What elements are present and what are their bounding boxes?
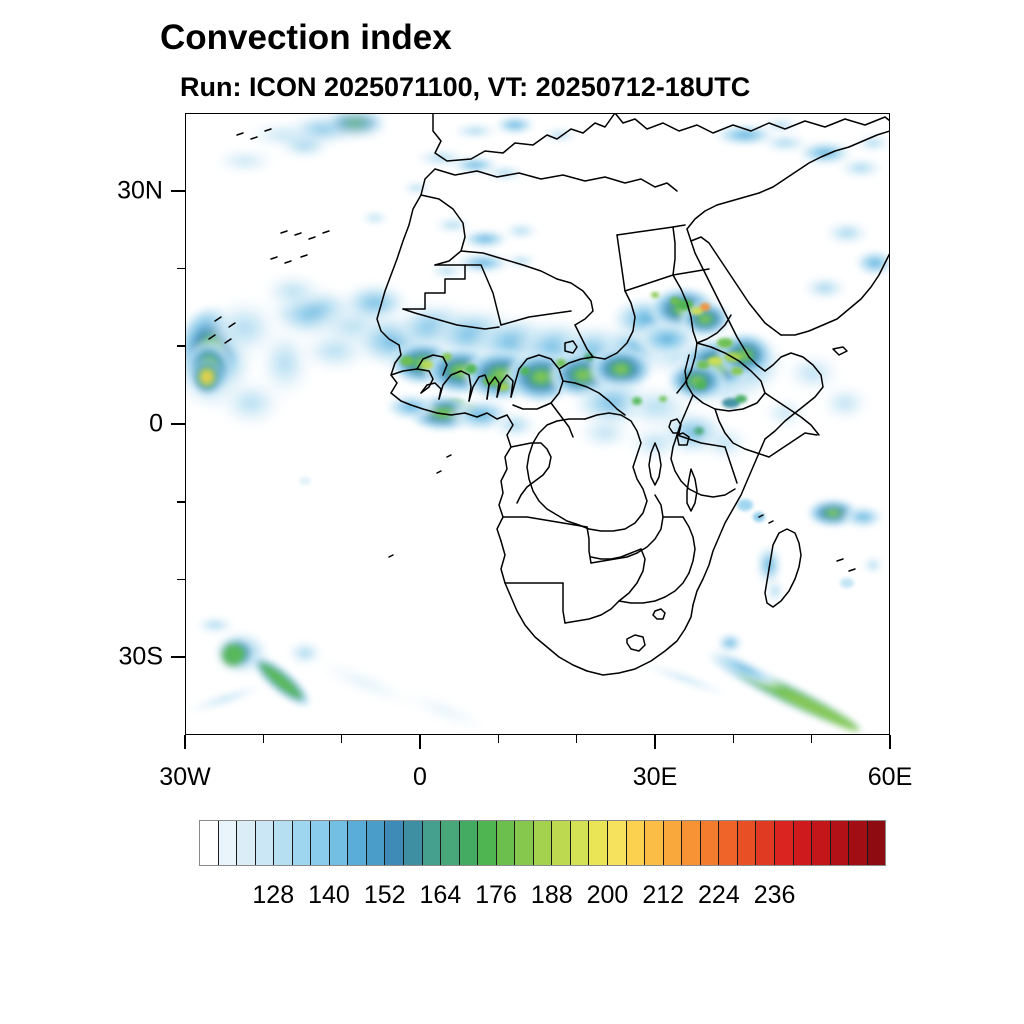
colorbar-cell — [849, 821, 868, 865]
colorbar-cell — [868, 821, 886, 865]
colorbar-cell — [794, 821, 813, 865]
y-tick — [171, 656, 185, 658]
colorbar-cell — [589, 821, 608, 865]
x-tick-label: 30W — [159, 763, 210, 792]
colorbar-cell — [293, 821, 312, 865]
colorbar-cell — [627, 821, 646, 865]
colorbar-cell — [274, 821, 293, 865]
colorbar-cell — [571, 821, 590, 865]
colorbar-tick-label: 152 — [364, 881, 406, 910]
x-tick — [419, 735, 421, 749]
convection-map — [185, 113, 890, 735]
y-tick-label: 0 — [149, 410, 163, 439]
colorbar-cell — [719, 821, 738, 865]
colorbar-cell — [515, 821, 534, 865]
colorbar-cell — [534, 821, 553, 865]
colorbar-cell — [385, 821, 404, 865]
colorbar-cell — [812, 821, 831, 865]
colorbar-cell — [219, 821, 238, 865]
colorbar-tick-label: 212 — [642, 881, 684, 910]
x-tick — [889, 735, 891, 749]
colorbar-cell — [348, 821, 367, 865]
colorbar-cell — [460, 821, 479, 865]
x-tick — [733, 735, 735, 743]
x-tick — [811, 735, 813, 743]
colorbar-tick-label: 188 — [531, 881, 573, 910]
y-tick — [171, 190, 185, 192]
colorbar-cell — [367, 821, 386, 865]
colorbar-tick-label: 236 — [754, 881, 796, 910]
colorbar-cell — [552, 821, 571, 865]
colorbar-cell — [831, 821, 850, 865]
colorbar-tick-label: 128 — [252, 881, 294, 910]
colorbar-cell — [775, 821, 794, 865]
y-tick-label: 30S — [119, 643, 163, 672]
colorbar-cell — [423, 821, 442, 865]
x-tick — [576, 735, 578, 743]
colorbar-cell — [608, 821, 627, 865]
colorbar-cell — [478, 821, 497, 865]
run-valid-time-subtitle: Run: ICON 2025071100, VT: 20250712-18UTC — [180, 72, 750, 103]
colorbar[interactable] — [199, 820, 886, 866]
x-tick — [498, 735, 500, 743]
y-tick — [177, 501, 185, 503]
x-tick — [654, 735, 656, 749]
colorbar-cell — [237, 821, 256, 865]
colorbar-cell — [200, 821, 219, 865]
colorbar-tick-label: 176 — [475, 881, 517, 910]
colorbar-cell — [738, 821, 757, 865]
x-tick-label: 0 — [413, 763, 427, 792]
page-title: Convection index — [160, 18, 452, 58]
colorbar-tick-label: 200 — [587, 881, 629, 910]
y-tick — [177, 579, 185, 581]
map-plot-area — [185, 113, 890, 735]
x-tick — [263, 735, 265, 743]
y-tick — [177, 345, 185, 347]
colorbar-cell — [701, 821, 720, 865]
colorbar-cell — [645, 821, 664, 865]
colorbar-cell — [311, 821, 330, 865]
x-tick — [341, 735, 343, 743]
y-tick-label: 30N — [117, 176, 163, 205]
colorbar-cell — [404, 821, 423, 865]
colorbar-cell — [330, 821, 349, 865]
colorbar-cell — [497, 821, 516, 865]
colorbar-cell — [441, 821, 460, 865]
colorbar-cell — [664, 821, 683, 865]
x-tick-label: 30E — [633, 763, 677, 792]
y-tick — [177, 268, 185, 270]
x-tick — [184, 735, 186, 749]
convection-index-figure: Convection index Run: ICON 2025071100, V… — [0, 0, 1024, 1024]
colorbar-cell — [756, 821, 775, 865]
x-tick-label: 60E — [868, 763, 912, 792]
colorbar-tick-label: 164 — [420, 881, 462, 910]
colorbar-cell — [682, 821, 701, 865]
colorbar-tick-label: 140 — [308, 881, 350, 910]
colorbar-cell — [256, 821, 275, 865]
colorbar-tick-label: 224 — [698, 881, 740, 910]
y-tick — [171, 423, 185, 425]
